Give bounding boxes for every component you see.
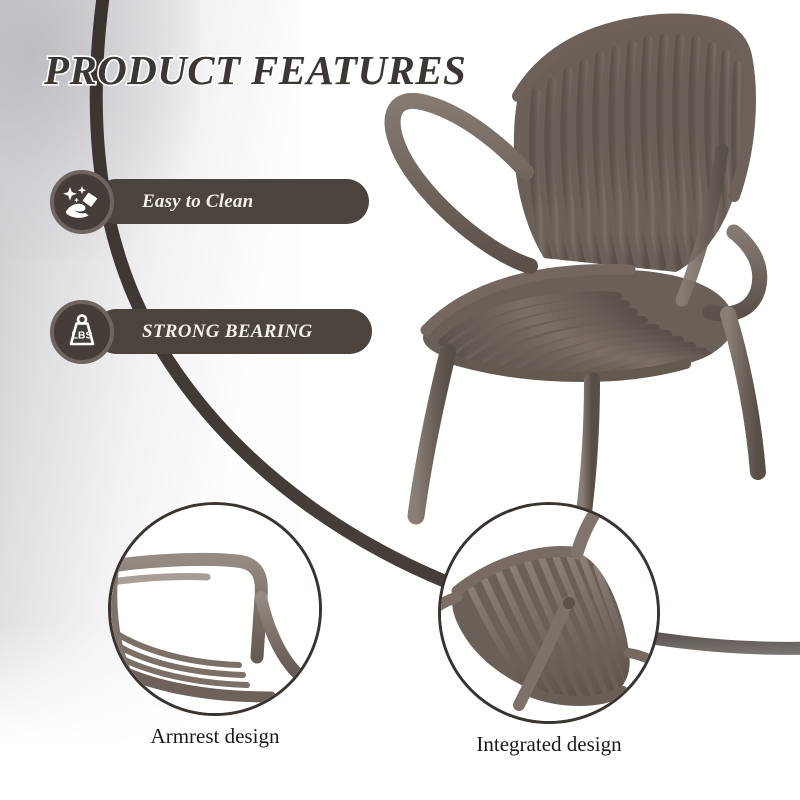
detail-circle-armrest [108,502,322,716]
detail-caption-armrest: Armrest design [102,724,328,749]
feature-label: STRONG BEARING [142,321,313,343]
armrest-closeup-illustration [111,505,319,713]
feature-pill: Easy to Clean [94,179,369,224]
product-features-poster: PRODUCT FEATURES Easy to Clean [0,0,800,800]
detail-circle-integrated [438,502,660,724]
page-title: PRODUCT FEATURES [44,46,466,94]
sparkle-hand-wipe-icon [50,170,114,234]
detail-caption-integrated: Integrated design [430,732,668,757]
weight-unit-text: LBS [72,330,93,342]
weight-lbs-icon: LBS [50,300,114,364]
feature-pill: STRONG BEARING [94,309,372,354]
integrated-seat-closeup-illustration [441,505,657,721]
feature-label: Easy to Clean [142,191,253,213]
